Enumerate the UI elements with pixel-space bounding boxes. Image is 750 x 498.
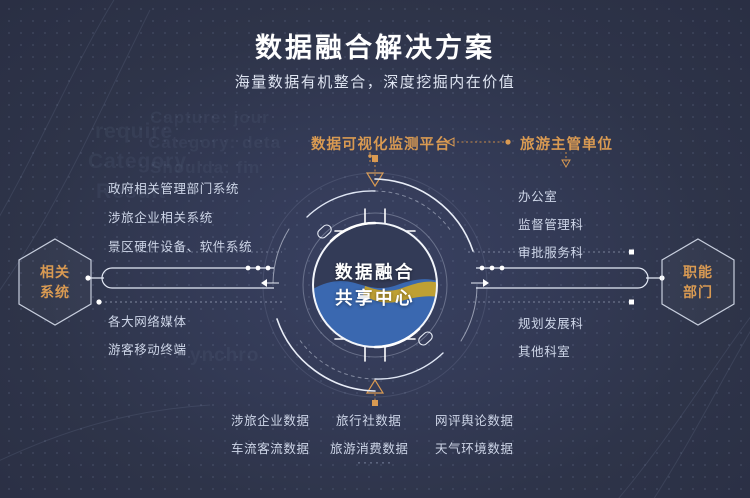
hexagon-left-line1: 相关 [40, 262, 70, 282]
bg-word: require [95, 120, 173, 144]
bg-word: ynchro [190, 345, 259, 367]
hexagon-right-line2: 部门 [683, 282, 713, 302]
center-label: 数据融合 共享中心 [255, 165, 495, 405]
left-item-1[interactable]: 涉旅企业相关系统 [108, 207, 213, 226]
bottom-ellipsis: ······ [0, 455, 750, 469]
hexagon-left-line2: 系统 [40, 282, 70, 302]
right-item-2[interactable]: 审批服务科 [518, 242, 584, 261]
hexagon-left-text: 相关 系统 [14, 236, 96, 328]
bg-word: Category: deta [148, 133, 281, 153]
left-item-0[interactable]: 政府相关管理部门系统 [108, 178, 239, 197]
right-item-1[interactable]: 监督管理科 [518, 214, 584, 233]
page-title: 数据融合解决方案 [0, 26, 750, 65]
bg-word: Shoulda: fin [150, 158, 260, 178]
bg-word: Category [88, 150, 187, 174]
bottom-cell-r0c1[interactable]: 旅行社数据 [336, 410, 402, 429]
left-item-3[interactable]: 各大网络媒体 [108, 311, 187, 330]
bottom-cell-r0c0[interactable]: 涉旅企业数据 [231, 410, 310, 429]
label-tourism-authority[interactable]: 旅游主管单位 [520, 133, 613, 154]
hexagon-functional-departments[interactable]: 职能 部门 [657, 236, 739, 328]
center-line1: 数据融合 [335, 259, 415, 285]
left-item-2[interactable]: 景区硬件设备、软件系统 [108, 236, 252, 255]
right-item-3[interactable]: 规划发展科 [518, 313, 584, 332]
left-item-4[interactable]: 游客移动终端 [108, 339, 187, 358]
page-subtitle: 海量数据有机整合，深度挖掘内在价值 [0, 71, 750, 92]
infographic-canvas: Capture: jour Category: deta Shoulda: fi… [0, 0, 750, 498]
hexagon-right-text: 职能 部门 [657, 236, 739, 328]
bg-word: Capture: jour [150, 108, 270, 128]
label-visualization-platform[interactable]: 数据可视化监测平台 [311, 133, 451, 154]
right-item-4[interactable]: 其他科室 [518, 341, 570, 360]
hexagon-related-systems[interactable]: 相关 系统 [14, 236, 96, 328]
bottom-cell-r0c2[interactable]: 网评舆论数据 [435, 410, 514, 429]
hexagon-right-line1: 职能 [683, 262, 713, 282]
right-item-0[interactable]: 办公室 [518, 186, 557, 205]
center-line2: 共享中心 [335, 285, 415, 311]
